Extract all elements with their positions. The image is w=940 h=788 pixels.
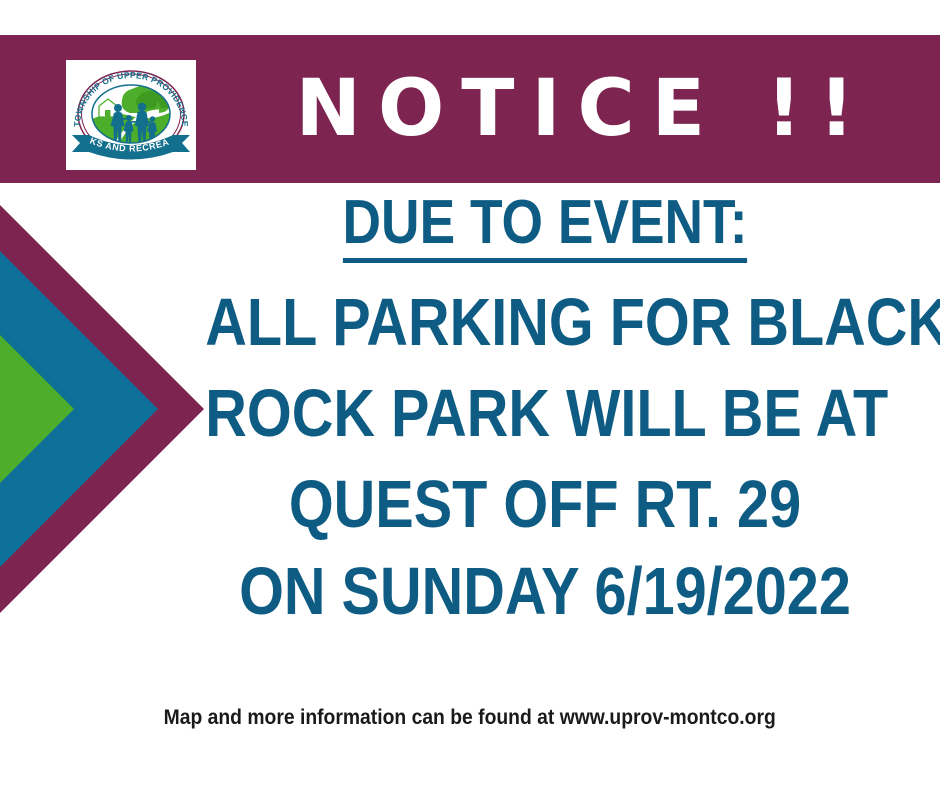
notice-message: DUE TO EVENT: ALL PARKING FOR BLACK ROCK…	[150, 192, 940, 625]
header-bar: TOWNSHIP OF UPPER PROVIDENCE PARKS AND R…	[0, 35, 940, 183]
message-line-4: ON SUNDAY 6/19/2022	[205, 558, 884, 625]
township-logo: TOWNSHIP OF UPPER PROVIDENCE PARKS AND R…	[66, 60, 196, 170]
footer-note-text: Map and more information can be found at…	[164, 706, 776, 730]
message-line-3: QUEST OFF RT. 29	[205, 471, 884, 538]
township-logo-icon: TOWNSHIP OF UPPER PROVIDENCE PARKS AND R…	[66, 60, 196, 170]
footer-note: Map and more information can be found at…	[0, 706, 940, 730]
message-heading: DUE TO EVENT:	[205, 192, 884, 265]
message-heading-text: DUE TO EVENT:	[343, 192, 748, 263]
page-title: NOTICE !!	[210, 35, 940, 183]
message-line-2: ROCK PARK WILL BE AT	[205, 380, 884, 447]
message-line-1: ALL PARKING FOR BLACK	[205, 289, 884, 356]
notice-flyer: TOWNSHIP OF UPPER PROVIDENCE PARKS AND R…	[0, 0, 940, 788]
